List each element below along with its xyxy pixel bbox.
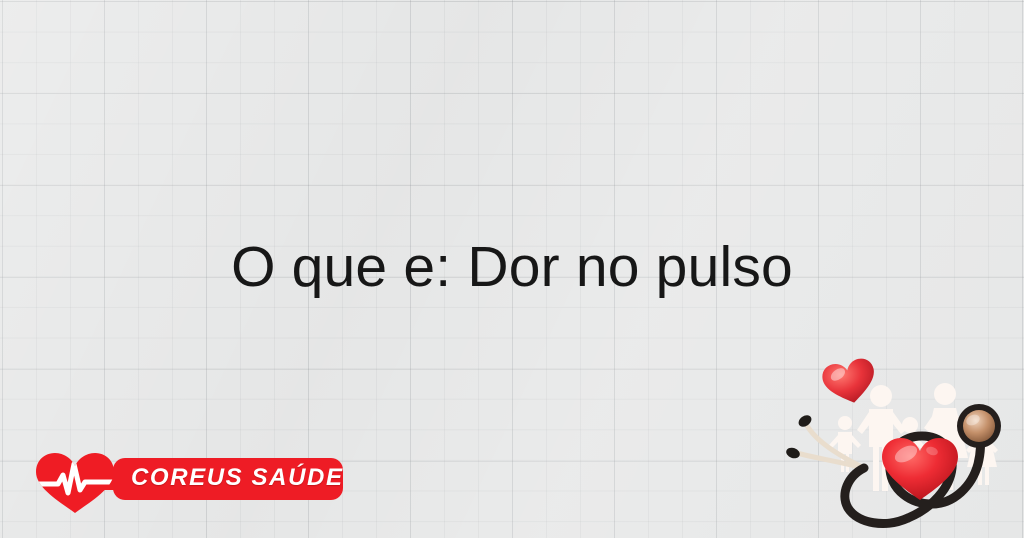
medical-artwork <box>782 352 1024 538</box>
brand-name-label: COREUS SAÚDE <box>131 464 344 492</box>
page-title: O que e: Dor no pulso <box>0 236 1024 299</box>
slide-canvas: O que e: Dor no pulso COREUS SAÚDE <box>0 0 1024 538</box>
small-heart-icon <box>820 356 880 408</box>
